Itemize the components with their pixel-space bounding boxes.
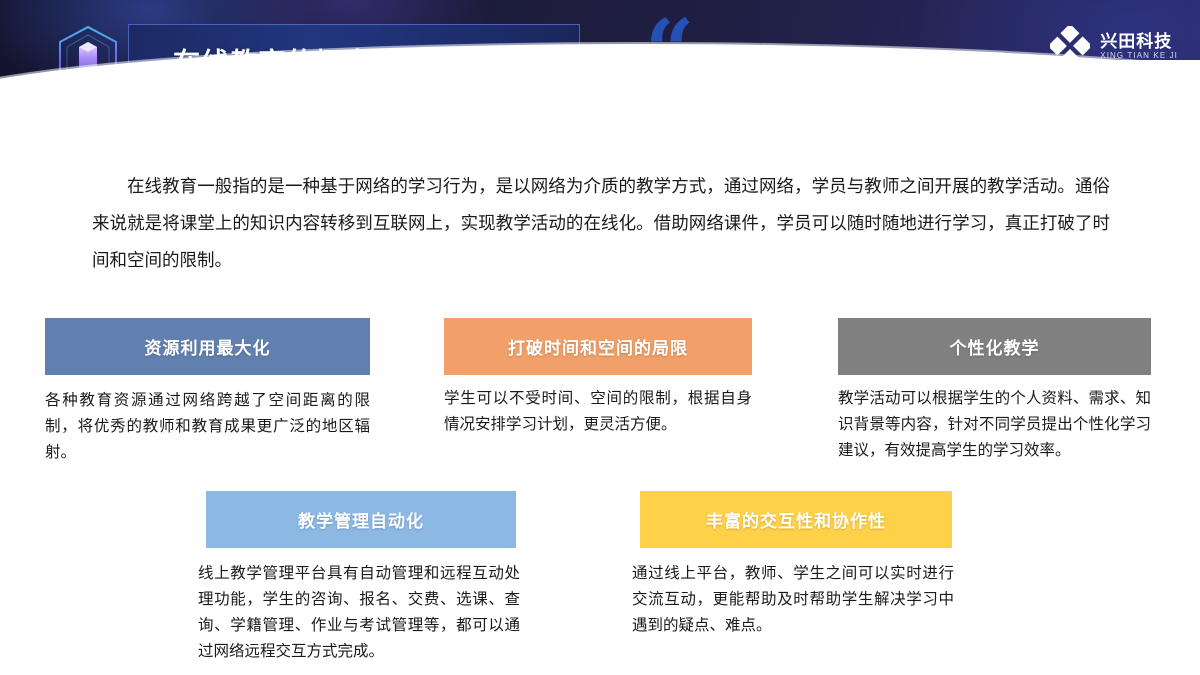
feature-card-time-space: 打破时间和空间的局限 学生可以不受时间、空间的限制，根据自身情况安排学习计划，更… bbox=[444, 318, 752, 438]
feature-card-body: 学生可以不受时间、空间的限制，根据自身情况安排学习计划，更灵活方便。 bbox=[444, 386, 752, 438]
feature-card-header: 个性化教学 bbox=[838, 318, 1151, 375]
feature-card-body: 线上教学管理平台具有自动管理和远程互动处理功能，学生的咨询、报名、交费、选课、查… bbox=[198, 561, 520, 665]
brand-name-en: XING TIAN KE JI bbox=[1100, 52, 1178, 60]
feature-card-header: 丰富的交互性和协作性 bbox=[640, 491, 952, 548]
feature-card-personalized: 个性化教学 教学活动可以根据学生的个人资料、需求、知识背景等内容，针对不同学员提… bbox=[838, 318, 1151, 464]
feature-card-body: 各种教育资源通过网络跨越了空间距离的限制，将优秀的教师和教育成果更广泛的地区辐射… bbox=[45, 388, 370, 466]
feature-card-automation: 教学管理自动化 线上教学管理平台具有自动管理和远程互动处理功能，学生的咨询、报名… bbox=[206, 491, 516, 665]
feature-card-header: 教学管理自动化 bbox=[206, 491, 516, 548]
feature-card-interaction: 丰富的交互性和协作性 通过线上平台，教师、学生之间可以实时进行交流互动，更能帮助… bbox=[640, 491, 952, 639]
brand-name-cn: 兴田科技 bbox=[1100, 33, 1178, 50]
feature-card-body: 教学活动可以根据学生的个人资料、需求、知识背景等内容，针对不同学员提出个性化学习… bbox=[838, 386, 1151, 464]
feature-card-header: 资源利用最大化 bbox=[45, 318, 370, 375]
slide-header: 在线教育的概念和优势 “ 兴田科技 XING TIAN KE JI bbox=[0, 0, 1200, 126]
intro-paragraph: 在线教育一般指的是一种基于网络的学习行为，是以网络为介质的教学方式，通过网络，学… bbox=[92, 168, 1110, 279]
feature-card-resource: 资源利用最大化 各种教育资源通过网络跨越了空间距离的限制，将优秀的教师和教育成果… bbox=[45, 318, 370, 466]
feature-card-body: 通过线上平台，教师、学生之间可以实时进行交流互动，更能帮助及时帮助学生解决学习中… bbox=[632, 561, 954, 639]
feature-card-header: 打破时间和空间的局限 bbox=[444, 318, 752, 375]
